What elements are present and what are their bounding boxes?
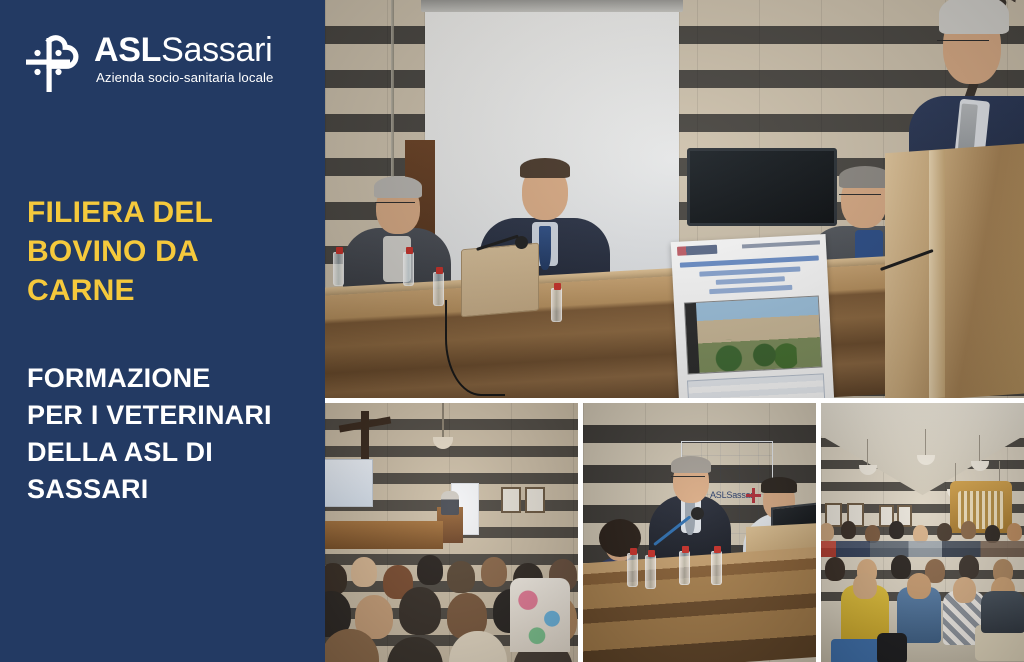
subheadline-block: FORMAZIONE PER I VETERINARI DELLA ASL DI… [27,360,322,508]
brand-tagline: Azienda socio-sanitaria locale [94,70,273,86]
photo-vignette [821,403,1024,662]
photo-audience-wide [821,403,1024,662]
headline-line-1: FILIERA DEL [27,193,317,232]
poster-root: ASLSassari Azienda socio-sanitaria local… [0,0,1024,662]
subheadline-line-2: PER I VETERINARI [27,397,322,434]
brand-lockup: ASLSassari Azienda socio-sanitaria local… [26,28,273,94]
subheadline-line-1: FORMAZIONE [27,360,322,397]
brand-name-bold: ASL [94,31,161,69]
subheadline-line-3: DELLA ASL DI [27,434,322,471]
subheadline-line-4: SASSARI [27,471,322,508]
photo-main-panel [325,0,1024,398]
photo-speaker-banner: ASLSassari [583,403,816,662]
photo-vignette [325,0,1024,398]
photo-vignette [325,403,578,662]
brand-name-light: Sassari [161,31,272,69]
photo-collage: ASLSassari [325,0,1024,662]
headline-line-3: CARNE [27,271,317,310]
photo-vignette [583,403,816,662]
brand-name: ASLSassari [94,32,273,68]
headline-line-2: BOVINO DA [27,232,317,271]
headline-block: FILIERA DEL BOVINO DA CARNE [27,193,317,310]
asl-sassari-cross-heart-logo [26,30,84,94]
sidebar-panel: ASLSassari Azienda socio-sanitaria local… [0,0,325,662]
photo-audience-rear [325,403,578,662]
